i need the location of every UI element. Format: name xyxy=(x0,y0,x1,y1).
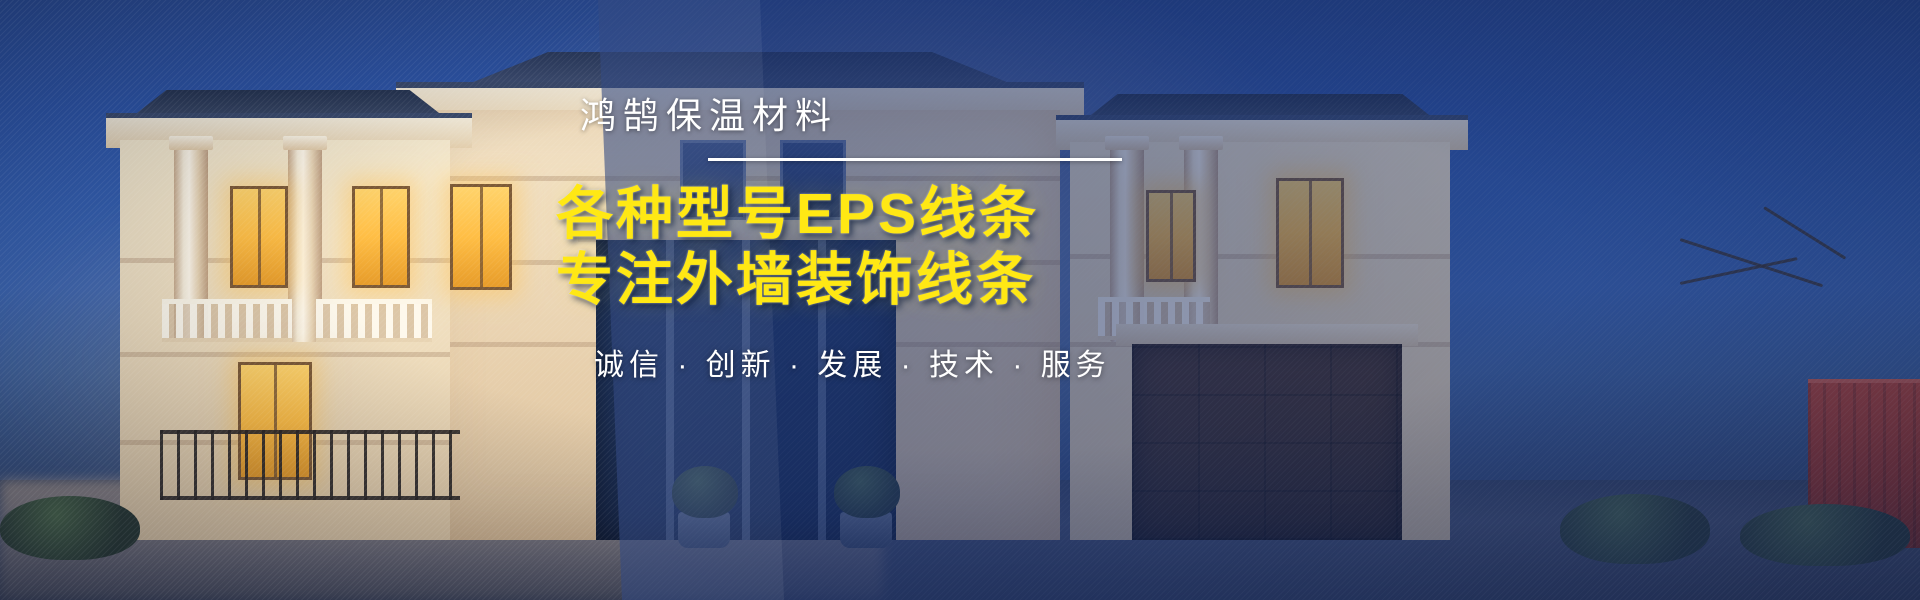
balustrade xyxy=(162,299,292,342)
shrub xyxy=(1740,504,1910,566)
shrub xyxy=(672,466,738,518)
tagline: 诚信 · 创新 · 发展 · 技术 · 服务 xyxy=(594,340,1656,384)
divider-rule xyxy=(708,158,1122,161)
lit-window xyxy=(450,184,512,290)
company-name: 鸿鹄保温材料 xyxy=(580,96,1656,136)
iron-fence xyxy=(160,430,460,500)
column-capital xyxy=(283,136,327,150)
lit-window xyxy=(352,186,410,288)
window-mullion xyxy=(480,187,483,287)
window-mullion xyxy=(380,189,383,285)
facade-band xyxy=(120,352,450,357)
window-mullion xyxy=(258,189,261,285)
shrub xyxy=(0,496,140,560)
headline-line-2: 专注外墙装饰线条 xyxy=(556,247,1656,314)
column-capital xyxy=(169,136,213,150)
balustrade xyxy=(316,299,432,342)
lit-window xyxy=(230,186,288,288)
hero-banner: 鸿鹄保温材料 各种型号EPS线条 专注外墙装饰线条 诚信 · 创新 · 发展 ·… xyxy=(0,0,1920,600)
shrub xyxy=(1560,494,1710,564)
banner-copy: 鸿鹄保温材料 各种型号EPS线条 专注外墙装饰线条 诚信 · 创新 · 发展 ·… xyxy=(556,96,1656,384)
headline-line-1: 各种型号EPS线条 xyxy=(556,182,1039,246)
headline: 各种型号EPS线条 专注外墙装饰线条 xyxy=(556,181,1656,314)
shrub xyxy=(834,466,900,518)
